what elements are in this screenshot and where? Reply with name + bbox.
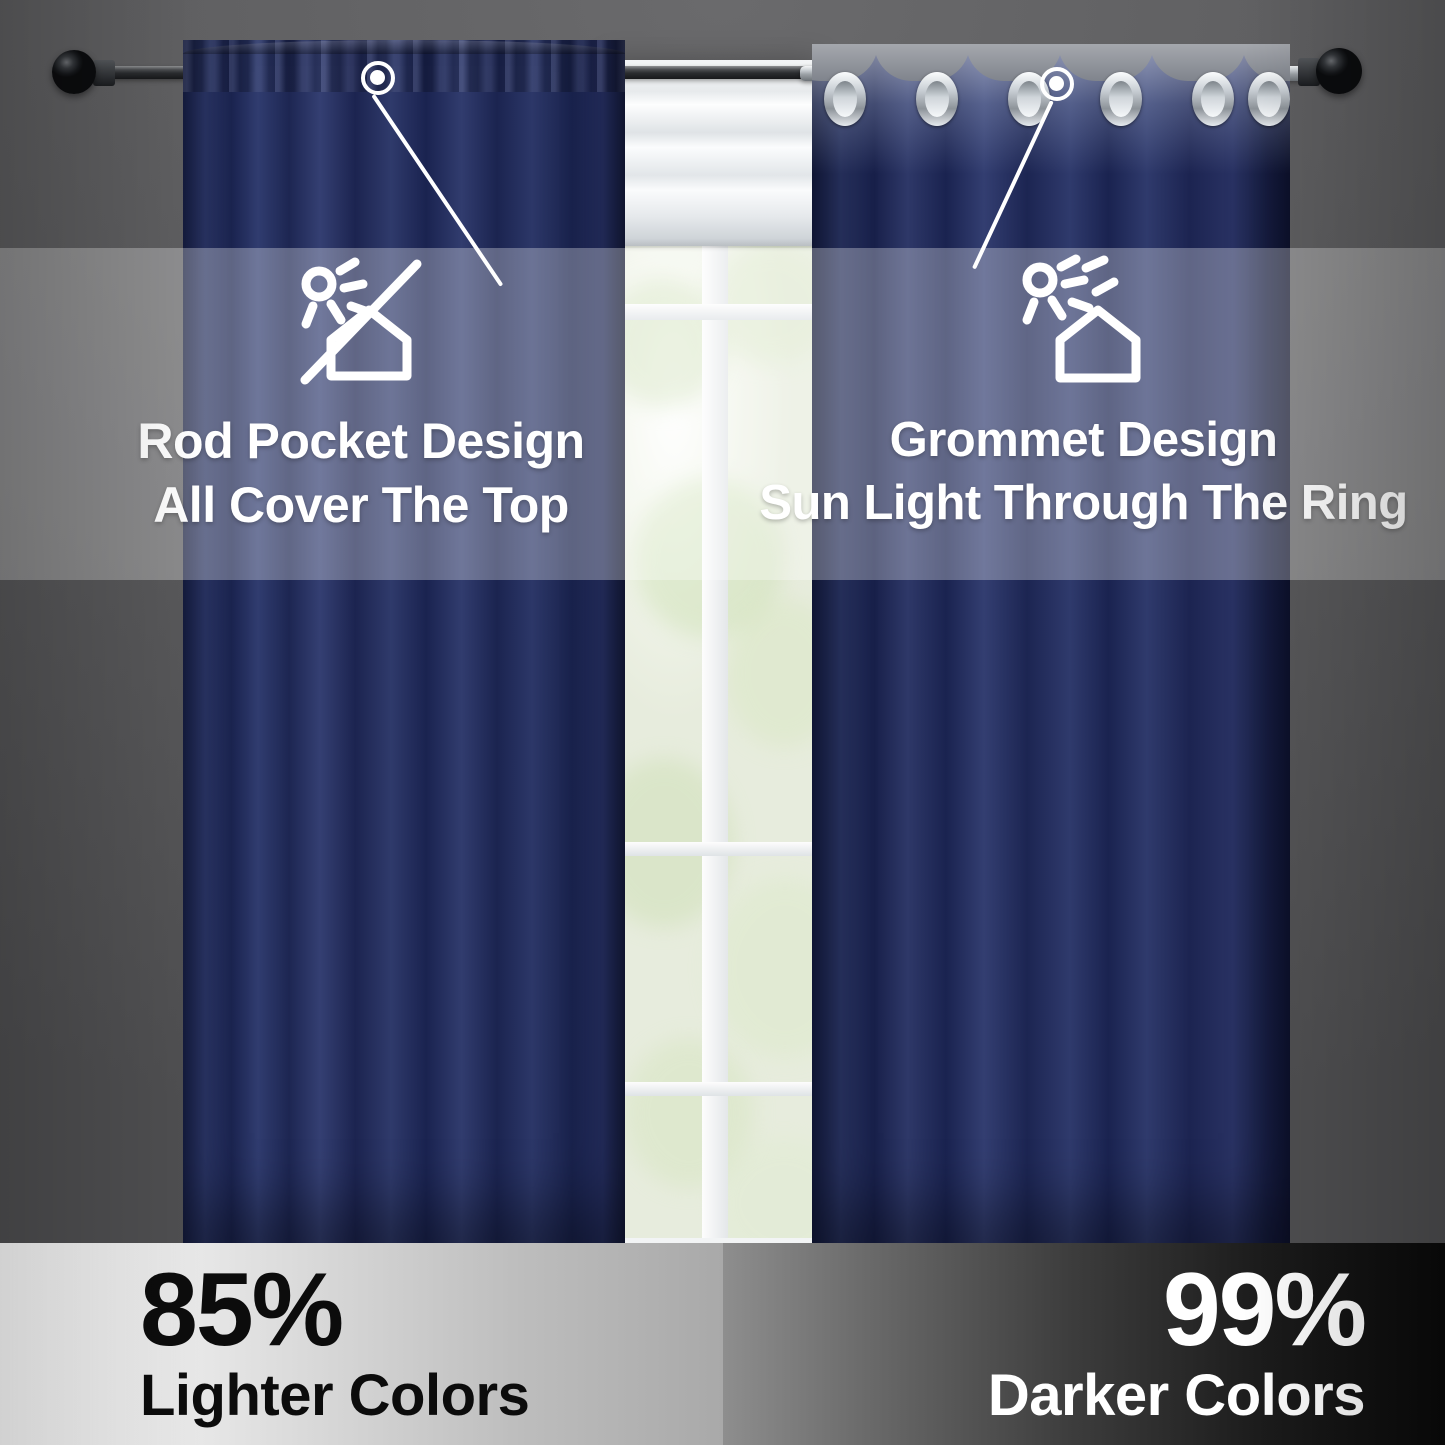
image-vignette: [0, 0, 1445, 1445]
product-feature-image: Rod Pocket Design All Cover The Top Grom…: [0, 0, 1445, 1445]
